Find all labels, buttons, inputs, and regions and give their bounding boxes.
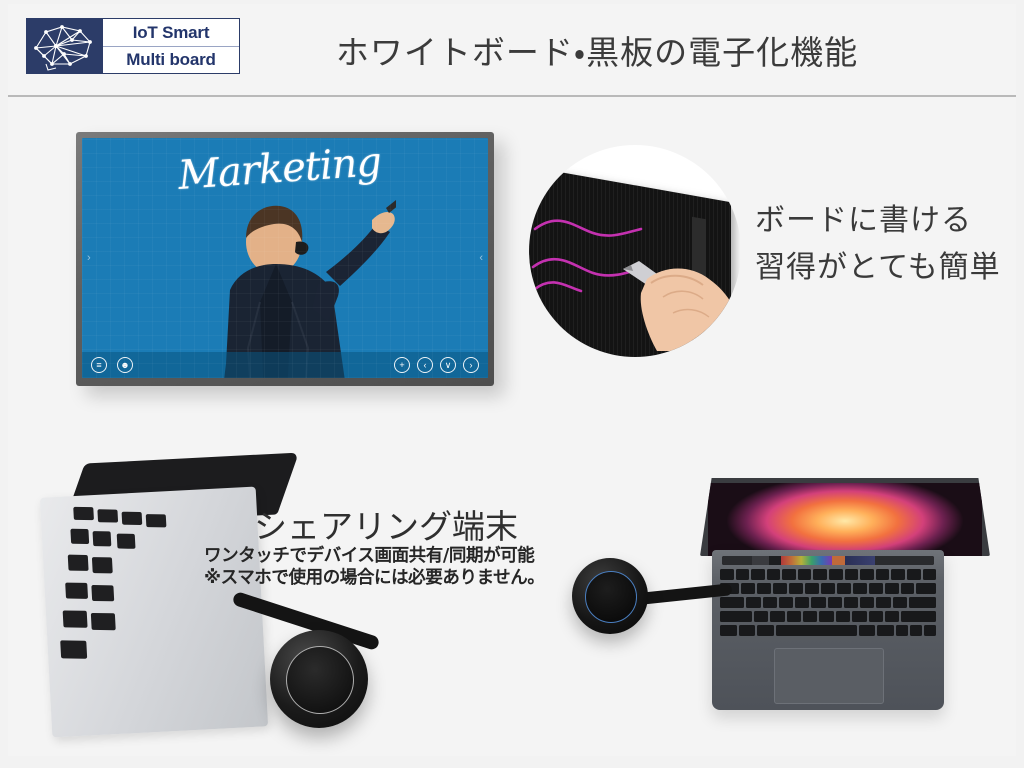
- macbook-photo: [560, 462, 1020, 747]
- user-avatar-icon[interactable]: ☻: [117, 357, 133, 373]
- add-icon[interactable]: +: [394, 357, 410, 373]
- sharing-desc-line2: ※スマホで使用の場合には必要ありません。: [204, 567, 544, 589]
- sharing-section-description: ワンタッチでデバイス画面共有/同期が可能 ※スマホで使用の場合には必要ありません…: [204, 545, 544, 590]
- right-copy-line2: 習得がとても簡単: [755, 245, 1015, 292]
- right-copy-line1: ボードに書ける: [755, 198, 1015, 245]
- screen-handwriting-text: Marketing: [177, 139, 383, 199]
- screen-toolbar-left-group: ≡ ☻: [91, 357, 133, 373]
- screen-toolbar-right-group: + ‹ ∨ ›: [394, 357, 479, 373]
- macbook-touch-bar[interactable]: [722, 556, 934, 565]
- sharing-desc-line1: ワンタッチでデバイス画面共有/同期が可能: [204, 545, 544, 567]
- hand-with-stylus-icon: [617, 231, 741, 356]
- sharing-dongle-icon: [572, 558, 648, 634]
- stylus-circle-photo: [529, 145, 741, 357]
- slide-header: IoT Smart Multi board ホワイトボード・黒板の電子化機能: [0, 0, 1024, 96]
- chevron-left-icon[interactable]: ‹: [479, 253, 483, 264]
- display-screen: Marketing › ‹: [82, 138, 488, 378]
- page-title: ホワイトボード・黒板の電子化機能: [0, 26, 1024, 74]
- businessman-writing-icon: [200, 198, 396, 378]
- back-icon[interactable]: ‹: [417, 357, 433, 373]
- screen-toolbar: ≡ ☻ + ‹ ∨ ›: [82, 352, 488, 378]
- silver-laptop-keyboard: [71, 507, 231, 685]
- chevron-right-icon[interactable]: ›: [87, 253, 91, 264]
- slide-canvas: IoT Smart Multi board ホワイトボード・黒板の電子化機能 M…: [0, 0, 1024, 768]
- macbook-lid: [700, 478, 990, 556]
- multi-window-icon[interactable]: ∨: [440, 357, 456, 373]
- right-copy-block: ボードに書ける 習得がとても簡単: [755, 198, 1015, 291]
- macbook-wallpaper: [708, 483, 982, 556]
- forward-icon[interactable]: ›: [463, 357, 479, 373]
- menu-list-icon[interactable]: ≡: [91, 357, 107, 373]
- sharing-section-title: シェアリング端末: [254, 500, 518, 548]
- header-divider: [8, 95, 1016, 97]
- display-bezel: Marketing › ‹: [76, 132, 494, 386]
- sharing-dongle-icon: [270, 630, 368, 728]
- macbook-pro-top-view-icon: [712, 550, 944, 710]
- macbook-trackpad[interactable]: [774, 648, 884, 704]
- macbook-keyboard[interactable]: [720, 569, 936, 641]
- board-display-photo: Marketing › ‹: [72, 128, 504, 438]
